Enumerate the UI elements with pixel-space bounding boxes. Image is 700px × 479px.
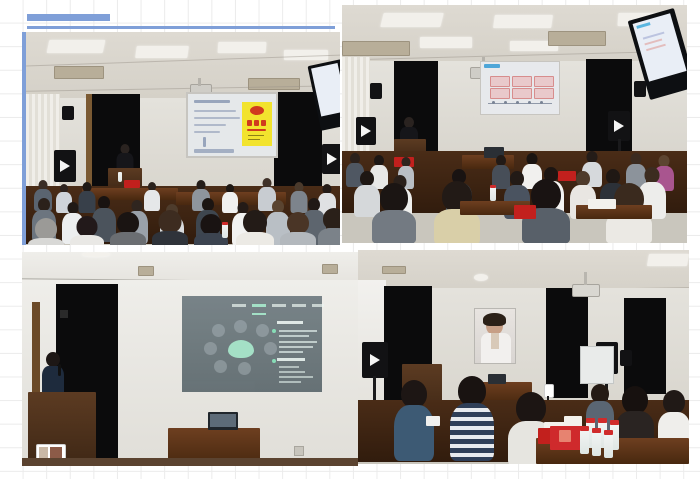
slide-text	[279, 376, 313, 378]
timeline-tick	[516, 101, 519, 104]
bottle-cap	[586, 418, 595, 423]
collage-photo-top-left	[22, 32, 340, 245]
head	[458, 376, 486, 406]
wall-speaker-right	[634, 81, 646, 97]
node-circle	[264, 342, 277, 355]
ceiling-light	[493, 15, 553, 28]
audience-member	[280, 212, 316, 245]
body-striped-shirt	[450, 403, 494, 461]
audience-member	[372, 183, 416, 243]
slide-text	[279, 381, 301, 383]
speaker-cone-icon	[60, 160, 70, 172]
projection-screen	[480, 61, 560, 115]
video-frame	[475, 309, 515, 363]
slide-text	[194, 131, 220, 133]
red-box	[550, 426, 582, 450]
body	[70, 235, 104, 245]
slide-nav-underline	[252, 313, 266, 315]
book-line	[248, 139, 260, 140]
node-circle	[214, 360, 227, 373]
slide-nav-item	[292, 304, 306, 307]
slide-header-badge	[484, 64, 500, 68]
ceiling-vent	[548, 31, 606, 46]
book-title-block	[254, 120, 259, 126]
slide-footer	[194, 149, 234, 153]
head	[663, 390, 685, 414]
floor-speaker-right	[322, 144, 340, 174]
projector-mount	[584, 272, 587, 285]
audience-member	[450, 376, 494, 460]
ceiling-projector	[572, 284, 600, 297]
ceiling-light	[380, 13, 443, 27]
slide-text	[279, 346, 313, 348]
slide-heading	[277, 321, 303, 324]
bottle-cap	[592, 428, 601, 433]
ceiling-vent	[138, 266, 154, 276]
ceiling-light	[135, 46, 189, 58]
slide-title	[194, 100, 230, 103]
book-title-block	[247, 120, 252, 126]
door-frame	[86, 94, 92, 186]
whiteboard	[580, 346, 614, 384]
slide-text	[279, 351, 303, 353]
floor-speaker-left	[362, 342, 388, 378]
ceiling-light	[420, 37, 472, 48]
lecture-hall-scene	[26, 32, 340, 245]
slide-text	[194, 117, 240, 119]
audience-member	[236, 210, 274, 245]
bottle-cap	[598, 418, 607, 423]
red-box-label	[559, 430, 571, 442]
head	[622, 386, 648, 414]
wall-outlet	[294, 446, 304, 456]
bottle-cap	[490, 185, 496, 188]
slide-text	[279, 335, 309, 337]
dark-doorway-right	[624, 298, 666, 394]
head	[201, 214, 222, 235]
wall-speaker-right	[620, 350, 632, 366]
projector-mount	[198, 78, 201, 86]
accent-bar-thick	[27, 14, 110, 21]
slide-nav-item	[312, 304, 324, 307]
ceiling-vent	[54, 66, 104, 79]
bullet-dot	[272, 359, 276, 363]
ceiling-vent	[248, 78, 300, 90]
slide-heading	[277, 358, 305, 361]
bottle-cap	[222, 222, 228, 225]
head	[159, 210, 182, 233]
water-bottle	[592, 432, 601, 456]
speaker-cone-icon	[370, 354, 380, 366]
held-phone	[426, 416, 440, 426]
head	[606, 169, 620, 184]
handout-paper	[588, 199, 616, 209]
body	[28, 238, 64, 245]
head	[576, 171, 590, 186]
ceiling-vent	[342, 41, 410, 56]
water-bottle	[222, 224, 228, 238]
ceiling-vent	[382, 266, 406, 274]
red-box	[514, 205, 536, 219]
flowchart-box	[490, 88, 510, 99]
timeline-tick	[504, 101, 507, 104]
node-circle	[238, 362, 251, 375]
slide-text	[279, 371, 305, 373]
head	[323, 208, 340, 230]
timeline-tick	[528, 101, 531, 104]
cloud-graphic	[228, 340, 254, 358]
projection-screen	[474, 308, 516, 364]
slide-nav-item	[272, 304, 286, 307]
floor-speaker-left	[54, 150, 76, 182]
wall-speaker-left	[370, 83, 382, 99]
slide-text	[194, 124, 226, 126]
ceiling-vent	[322, 264, 338, 274]
audience-member	[152, 210, 188, 245]
laptop	[208, 412, 238, 430]
bottle-cap	[580, 426, 589, 431]
ceiling-light	[647, 254, 689, 266]
book-cover-image	[242, 102, 272, 146]
wall-speaker-left	[62, 106, 74, 120]
video-person-hair	[483, 313, 506, 326]
bullet-dot	[272, 329, 276, 333]
body	[318, 228, 340, 245]
slide-nav-item-active	[252, 304, 266, 307]
video-playback-scene	[358, 250, 689, 464]
wall-switch	[60, 310, 68, 318]
audience-member	[28, 218, 64, 245]
ceiling-light	[82, 252, 110, 257]
head	[516, 392, 546, 424]
water-bottle	[604, 434, 613, 458]
water-bottle	[118, 172, 122, 182]
speaker-cone-icon	[614, 120, 624, 132]
book-subtitle	[247, 129, 266, 131]
timeline-tick	[540, 101, 543, 104]
ceiling	[22, 252, 358, 282]
timeline-tick	[492, 101, 495, 104]
node-circle	[256, 324, 269, 337]
speaker-and-screen-scene	[22, 252, 358, 466]
head	[243, 210, 267, 234]
ceiling-light	[218, 42, 267, 53]
body	[110, 232, 146, 245]
head	[380, 183, 408, 213]
slide-canvas	[0, 0, 700, 479]
flowchart-box	[534, 88, 554, 99]
body	[280, 232, 316, 245]
bottle-cap	[610, 420, 619, 425]
speaker-cone-icon	[327, 153, 337, 165]
microphone	[58, 364, 61, 376]
node-circle	[204, 342, 217, 355]
collage-photo-bottom-left	[22, 252, 358, 466]
floor-speaker-right	[608, 111, 630, 141]
bottle-cap	[604, 430, 613, 435]
flowchart-box	[512, 88, 532, 99]
body	[394, 405, 434, 461]
slide-text	[194, 110, 236, 112]
audience-member	[318, 208, 340, 245]
audience-member	[110, 212, 146, 245]
laptop-screen	[210, 414, 236, 427]
head	[77, 216, 98, 237]
speaker-cone-icon	[361, 125, 371, 137]
ceiling-light	[47, 40, 106, 53]
tv-slide-line	[646, 44, 666, 51]
node-circle	[234, 320, 247, 333]
body	[372, 210, 416, 243]
book-emblem	[250, 106, 264, 115]
water-bottle	[580, 430, 589, 454]
head	[117, 212, 139, 234]
slide-text	[279, 341, 317, 343]
book-line	[248, 135, 264, 136]
floor	[22, 458, 358, 466]
slide-text	[279, 366, 299, 368]
lecture-hall-wide-scene	[342, 5, 687, 243]
slide-nav-item	[232, 304, 246, 307]
head	[35, 218, 57, 240]
flowchart-box	[534, 76, 554, 87]
audience-member	[70, 216, 104, 245]
video-person-neck	[491, 333, 499, 349]
book-title-block	[261, 120, 266, 126]
phone-screen-right	[50, 447, 62, 458]
head	[645, 167, 660, 183]
red-box	[124, 180, 140, 188]
node-circle	[212, 324, 225, 337]
ceiling-light	[474, 274, 488, 281]
collage-photo-bottom-right	[358, 250, 689, 464]
collage-photo-top-right	[342, 5, 687, 243]
flowchart-box	[490, 76, 510, 87]
slide-text	[279, 330, 317, 332]
slide-accent	[203, 137, 206, 147]
projection-screen	[182, 296, 322, 392]
tv-slide-header	[636, 22, 650, 29]
projection-screen	[186, 92, 278, 158]
body	[152, 231, 188, 245]
flowchart-box	[512, 76, 532, 87]
head	[401, 380, 427, 408]
floor-speaker-left	[356, 117, 376, 145]
dark-curtain-right	[274, 92, 322, 188]
head	[287, 212, 309, 234]
accent-bar-thin	[27, 26, 335, 29]
body	[236, 232, 274, 245]
phone-screen-left	[39, 447, 48, 458]
water-bottle	[490, 187, 496, 201]
